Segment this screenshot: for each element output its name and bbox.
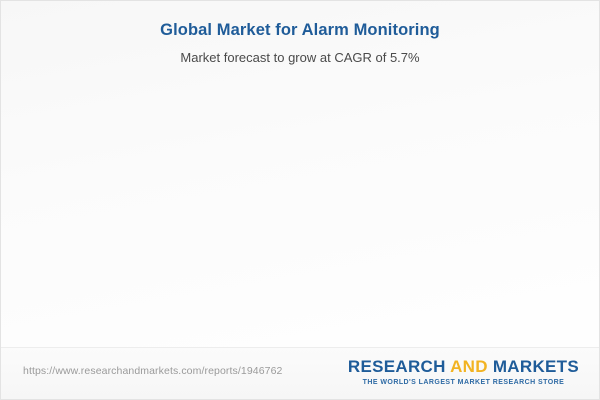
logo-word-markets: MARKETS [493,357,579,376]
logo-wordmark: RESEARCH AND MARKETS [348,357,579,376]
infographic-card: Global Market for Alarm Monitoring Marke… [0,0,600,400]
research-and-markets-logo[interactable]: RESEARCH AND MARKETS THE WORLD'S LARGEST… [348,357,579,387]
report-url-link[interactable]: https://www.researchandmarkets.com/repor… [23,365,282,377]
logo-word-research: RESEARCH [348,357,446,376]
logo-tagline: THE WORLD'S LARGEST MARKET RESEARCH STOR… [348,378,579,387]
chart-plot-area: USD 46.2 Billion 2022 USD 71.8 Billion [1,1,600,349]
logo-word-and: AND [446,357,493,376]
footer-bar: https://www.researchandmarkets.com/repor… [1,347,599,399]
